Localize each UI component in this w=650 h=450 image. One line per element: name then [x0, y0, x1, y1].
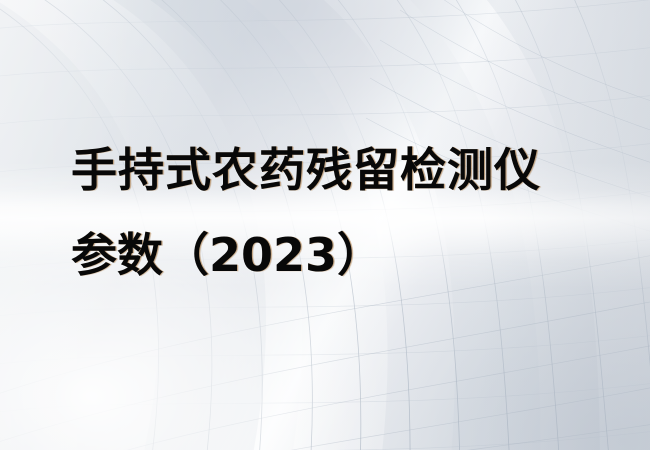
title-line-primary: 手持式农药残留检测仪 — [71, 128, 611, 213]
title-banner: 手持式农药残留检测仪 参数（2023） — [0, 0, 650, 450]
page-title: 手持式农药残留检测仪 参数（2023） — [71, 128, 611, 298]
title-line-secondary: 参数（2023） — [71, 213, 611, 298]
